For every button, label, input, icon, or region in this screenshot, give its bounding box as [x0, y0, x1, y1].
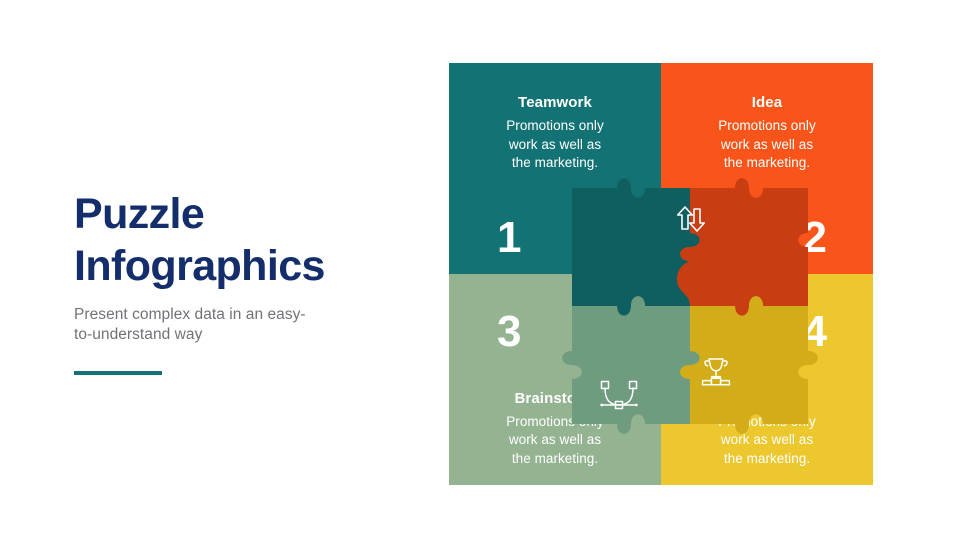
quadrant-number: 4	[803, 310, 826, 354]
quadrant-teamwork[interactable]: Teamwork Promotions only work as well as…	[449, 63, 661, 274]
puzzle-infographic: Teamwork Promotions only work as well as…	[449, 63, 873, 485]
quadrant-body: Promotions only work as well as the mark…	[675, 413, 859, 469]
quadrant-text-group: Idea Promotions only work as well as the…	[661, 94, 873, 173]
quadrant-number: 2	[803, 216, 826, 260]
quadrant-number: 1	[497, 216, 520, 260]
quadrant-project[interactable]: Project Promotions only work as well as …	[661, 274, 873, 485]
quadrant-body: Promotions only work as well as the mark…	[463, 117, 647, 173]
title-block: Puzzle Infographics Present complex data…	[74, 188, 404, 375]
quadrant-title: Project	[675, 390, 859, 408]
quadrant-brainstorm[interactable]: Brainstorm Promotions only work as well …	[449, 274, 661, 485]
quadrant-idea[interactable]: Idea Promotions only work as well as the…	[661, 63, 873, 274]
quadrant-title: Brainstorm	[463, 390, 647, 408]
quadrant-body: Promotions only work as well as the mark…	[675, 117, 859, 173]
quadrant-text-group: Teamwork Promotions only work as well as…	[449, 94, 661, 173]
quadrant-text-group: Brainstorm Promotions only work as well …	[449, 390, 661, 469]
accent-divider	[74, 371, 162, 375]
quadrant-title: Idea	[675, 94, 859, 112]
quadrant-body: Promotions only work as well as the mark…	[463, 413, 647, 469]
page-subtitle: Present complex data in an easy-to-under…	[74, 305, 322, 345]
quadrant-number: 3	[497, 310, 520, 354]
quadrant-text-group: Project Promotions only work as well as …	[661, 390, 873, 469]
page-title: Puzzle Infographics	[74, 188, 404, 292]
quadrant-title: Teamwork	[463, 94, 647, 112]
slide-canvas: Puzzle Infographics Present complex data…	[0, 0, 980, 551]
